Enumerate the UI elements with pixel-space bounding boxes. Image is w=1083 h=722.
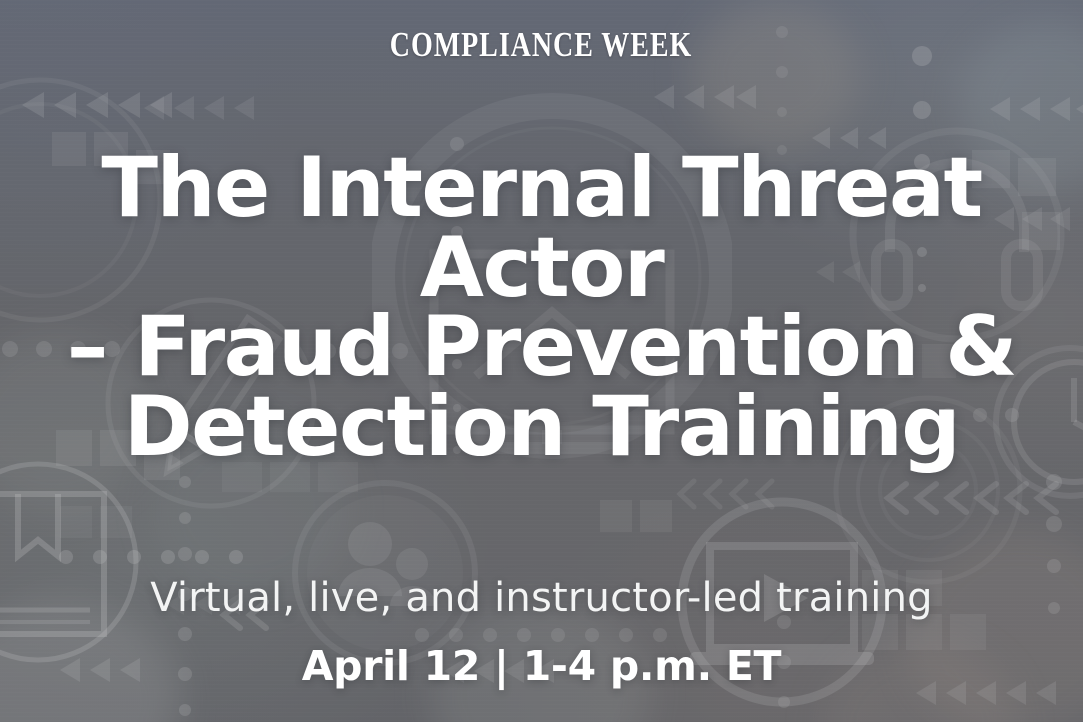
title-line-3: Detection Training [22,387,1062,467]
page-title: The Internal Threat Actor – Fraud Preven… [22,148,1062,467]
event-promo-banner: COMPLIANCE WEEK The Internal Threat Acto… [0,0,1083,722]
event-subtitle: Virtual, live, and instructor-led traini… [150,576,932,620]
banner-content: COMPLIANCE WEEK The Internal Threat Acto… [0,0,1083,722]
title-line-1: The Internal Threat Actor [22,148,1062,307]
event-datetime: April 12 | 1-4 p.m. ET [302,644,781,689]
title-line-2: – Fraud Prevention & [22,307,1062,387]
compliance-week-logo: COMPLIANCE WEEK [390,27,692,62]
